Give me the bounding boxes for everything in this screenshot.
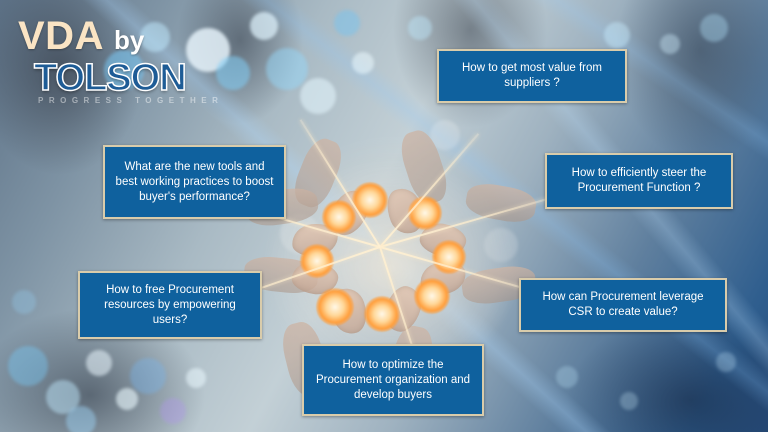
company-logo: TOLSON PROGRESS TOGETHER bbox=[34, 57, 258, 105]
product-name: VDA bbox=[18, 14, 104, 59]
question-text: How can Procurement leverage CSR to crea… bbox=[529, 290, 717, 320]
question-box-optimize[interactable]: How to optimize the Procurement organiza… bbox=[302, 344, 484, 416]
question-box-free-resources[interactable]: How to free Procurement resources by emp… bbox=[78, 271, 262, 339]
question-box-new-tools[interactable]: What are the new tools and best working … bbox=[103, 145, 286, 219]
question-text: How to optimize the Procurement organiza… bbox=[312, 358, 474, 403]
question-box-csr[interactable]: How can Procurement leverage CSR to crea… bbox=[519, 278, 727, 332]
by-label: by bbox=[114, 25, 144, 56]
company-tagline: PROGRESS TOGETHER bbox=[38, 96, 258, 105]
question-text: How to get most value from suppliers ? bbox=[447, 61, 617, 91]
presentation-slide: VDAby TOLSON PROGRESS TOGETHER How to ge… bbox=[0, 0, 768, 432]
question-box-steer[interactable]: How to efficiently steer the Procurement… bbox=[545, 153, 733, 209]
question-box-value[interactable]: How to get most value from suppliers ? bbox=[437, 49, 627, 103]
company-logo-text: TOLSON bbox=[34, 57, 258, 100]
question-text: How to free Procurement resources by emp… bbox=[88, 283, 252, 328]
brand-block: VDAby TOLSON PROGRESS TOGETHER bbox=[18, 14, 258, 105]
question-text: How to efficiently steer the Procurement… bbox=[555, 166, 723, 196]
question-text: What are the new tools and best working … bbox=[113, 160, 276, 205]
